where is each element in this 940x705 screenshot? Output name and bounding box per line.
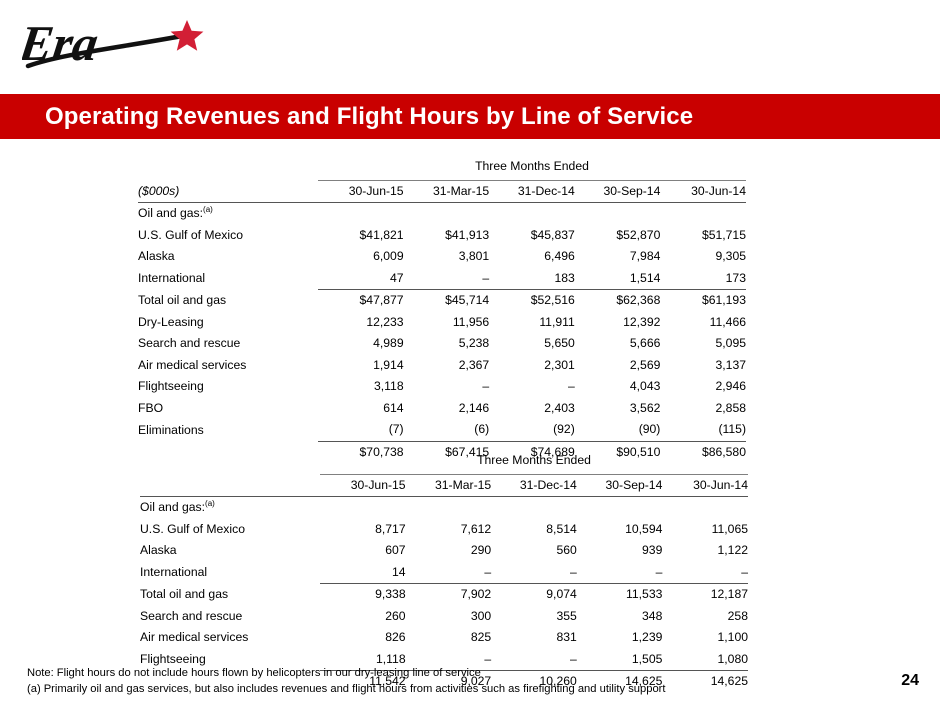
cell-3: 10,594 (577, 519, 663, 541)
table-row: Air medical services1,9142,3672,3012,569… (138, 355, 746, 377)
group-header-row: Three Months Ended (140, 450, 748, 472)
row-label: International (138, 268, 318, 290)
table-row: Search and rescue260300355348258 (140, 606, 748, 628)
footnote-marker: (a) (205, 499, 215, 508)
cell-3: 1,514 (575, 268, 661, 290)
cell-2 (491, 497, 577, 519)
cell-1 (404, 203, 490, 225)
spacer-cell (140, 450, 320, 472)
cell-0: $41,821 (318, 225, 404, 247)
cell-0 (320, 497, 406, 519)
cell-2: (92) (489, 419, 575, 441)
cell-3 (577, 497, 663, 519)
cell-1: 2,367 (404, 355, 490, 377)
row-label: U.S. Gulf of Mexico (140, 519, 320, 541)
cell-1: 5,238 (404, 333, 490, 355)
row-label: FBO (138, 398, 318, 420)
cell-3: 939 (577, 540, 663, 562)
cell-2: 2,301 (489, 355, 575, 377)
cell-3: 4,043 (575, 376, 661, 398)
footnote-note: Note:Flight hours do not include hours f… (27, 666, 666, 682)
column-header-row: 30-Jun-15 31-Mar-15 31-Dec-14 30-Sep-14 … (140, 474, 748, 497)
cell-4: $61,193 (660, 290, 746, 312)
units-label (140, 474, 320, 497)
cell-1: $45,714 (404, 290, 490, 312)
cell-1: 11,956 (404, 312, 490, 334)
cell-2: 9,074 (491, 584, 577, 606)
page-number: 24 (901, 672, 919, 690)
units-label: ($000s) (138, 180, 318, 203)
cell-2: 560 (491, 540, 577, 562)
table-body: Oil and gas:(a)U.S. Gulf of Mexico$41,82… (138, 203, 746, 464)
cell-0: 6,009 (318, 246, 404, 268)
era-logo-svg: Era (22, 14, 222, 76)
footnote-note-lead: Note: (27, 667, 54, 679)
cell-2: – (489, 376, 575, 398)
table-row: Flightseeing3,118––4,0432,946 (138, 376, 746, 398)
cell-3: 12,392 (575, 312, 661, 334)
cell-4: 11,065 (662, 519, 748, 541)
table-body: Oil and gas:(a)U.S. Gulf of Mexico8,7177… (140, 497, 748, 693)
table-row: Oil and gas:(a) (138, 203, 746, 225)
table-header: Three Months Ended 30-Jun-15 31-Mar-15 3… (140, 450, 748, 497)
page-title: Operating Revenues and Flight Hours by L… (45, 103, 693, 131)
table-header: Three Months Ended ($000s) 30-Jun-15 31-… (138, 156, 746, 203)
flight-hours-table: Three Months Ended 30-Jun-15 31-Mar-15 3… (140, 450, 748, 693)
cell-0: 826 (320, 627, 406, 649)
cell-4: 1,122 (662, 540, 748, 562)
title-banner: Operating Revenues and Flight Hours by L… (0, 94, 940, 139)
column-header-0: 30-Jun-15 (318, 180, 404, 203)
cell-4: 14,625 (662, 671, 748, 693)
cell-1: – (404, 268, 490, 290)
table-row: International47–1831,514173 (138, 268, 746, 290)
cell-0: 260 (320, 606, 406, 628)
cell-0: 3,118 (318, 376, 404, 398)
column-header-4: 30-Jun-14 (660, 180, 746, 203)
footnote-a-text: Primarily oil and gas services, but also… (44, 683, 666, 695)
cell-4: – (662, 562, 748, 584)
group-header-row: Three Months Ended (138, 156, 746, 178)
cell-4 (660, 203, 746, 225)
cell-0: 47 (318, 268, 404, 290)
cell-4: 258 (662, 606, 748, 628)
cell-0: 9,338 (320, 584, 406, 606)
cell-0: 8,717 (320, 519, 406, 541)
table-row: Total oil and gas9,3387,9029,07411,53312… (140, 584, 748, 606)
column-header-3: 30-Sep-14 (575, 180, 661, 203)
cell-4: 2,858 (660, 398, 746, 420)
row-label: Total oil and gas (140, 584, 320, 606)
table-row: Alaska6072905609391,122 (140, 540, 748, 562)
cell-2: 831 (491, 627, 577, 649)
cell-2: 11,911 (489, 312, 575, 334)
cell-4: 12,187 (662, 584, 748, 606)
cell-2: 183 (489, 268, 575, 290)
cell-4: 5,095 (660, 333, 746, 355)
table-row: FBO6142,1462,4033,5622,858 (138, 398, 746, 420)
table-row: Oil and gas:(a) (140, 497, 748, 519)
cell-1: – (406, 562, 492, 584)
row-label: Dry-Leasing (138, 312, 318, 334)
row-label: Flightseeing (138, 376, 318, 398)
table-row: Eliminations(7)(6)(92)(90)(115) (138, 419, 746, 441)
cell-3: 2,569 (575, 355, 661, 377)
cell-4: 1,100 (662, 627, 748, 649)
column-header-1: 31-Mar-15 (406, 474, 492, 497)
cell-1: – (404, 376, 490, 398)
row-label: Total oil and gas (138, 290, 318, 312)
cell-4: (115) (660, 419, 746, 441)
operating-revenues-table: Three Months Ended ($000s) 30-Jun-15 31-… (138, 156, 746, 463)
cell-4: 9,305 (660, 246, 746, 268)
column-header-1: 31-Mar-15 (404, 180, 490, 203)
cell-0: 614 (318, 398, 404, 420)
group-header-label: Three Months Ended (320, 450, 748, 472)
cell-1: 3,801 (404, 246, 490, 268)
footnote-a: (a)Primarily oil and gas services, but a… (27, 682, 666, 698)
era-logo: Era (22, 14, 222, 76)
cell-1 (406, 497, 492, 519)
cell-4: $51,715 (660, 225, 746, 247)
cell-3 (575, 203, 661, 225)
cell-3: 348 (577, 606, 663, 628)
cell-4: 11,466 (660, 312, 746, 334)
cell-3: 7,984 (575, 246, 661, 268)
spacer-cell (138, 156, 318, 178)
cell-2: 5,650 (489, 333, 575, 355)
cell-0: 12,233 (318, 312, 404, 334)
cell-3: 1,239 (577, 627, 663, 649)
cell-4: 2,946 (660, 376, 746, 398)
table-row: International14–––– (140, 562, 748, 584)
cell-2: 2,403 (489, 398, 575, 420)
column-header-row: ($000s) 30-Jun-15 31-Mar-15 31-Dec-14 30… (138, 180, 746, 203)
column-header-4: 30-Jun-14 (662, 474, 748, 497)
cell-4: 1,080 (662, 649, 748, 671)
row-label: Eliminations (138, 419, 318, 441)
row-label: U.S. Gulf of Mexico (138, 225, 318, 247)
column-header-3: 30-Sep-14 (577, 474, 663, 497)
row-label: Search and rescue (140, 606, 320, 628)
row-label: International (140, 562, 320, 584)
cell-2: $45,837 (489, 225, 575, 247)
cell-0: 607 (320, 540, 406, 562)
cell-1: 825 (406, 627, 492, 649)
star-icon (171, 20, 204, 51)
row-label: Alaska (140, 540, 320, 562)
footnote-marker: (a) (203, 205, 213, 214)
cell-4: 173 (660, 268, 746, 290)
row-label: Search and rescue (138, 333, 318, 355)
group-header-label: Three Months Ended (318, 156, 746, 178)
cell-2: – (491, 562, 577, 584)
cell-0 (318, 203, 404, 225)
row-label: Alaska (138, 246, 318, 268)
cell-3: $62,368 (575, 290, 661, 312)
cell-1: 2,146 (404, 398, 490, 420)
cell-3: 3,562 (575, 398, 661, 420)
cell-4: 3,137 (660, 355, 746, 377)
cell-3: $52,870 (575, 225, 661, 247)
row-label: Oil and gas:(a) (140, 497, 320, 519)
cell-4 (662, 497, 748, 519)
cell-2: $52,516 (489, 290, 575, 312)
footnote-a-lead: (a) (27, 683, 41, 695)
cell-1: 7,902 (406, 584, 492, 606)
cell-3: (90) (575, 419, 661, 441)
cell-0: 4,989 (318, 333, 404, 355)
cell-2 (489, 203, 575, 225)
column-header-2: 31-Dec-14 (489, 180, 575, 203)
cell-0: 1,914 (318, 355, 404, 377)
row-label: Oil and gas:(a) (138, 203, 318, 225)
cell-0: $47,877 (318, 290, 404, 312)
cell-3: 5,666 (575, 333, 661, 355)
cell-0: (7) (318, 419, 404, 441)
cell-2: 8,514 (491, 519, 577, 541)
cell-1: 290 (406, 540, 492, 562)
row-label: Air medical services (140, 627, 320, 649)
table-row: U.S. Gulf of Mexico$41,821$41,913$45,837… (138, 225, 746, 247)
cell-2: 355 (491, 606, 577, 628)
footnotes: Note:Flight hours do not include hours f… (27, 666, 666, 697)
table-row: Search and rescue4,9895,2385,6505,6665,0… (138, 333, 746, 355)
cell-1: 300 (406, 606, 492, 628)
table-row: Total oil and gas$47,877$45,714$52,516$6… (138, 290, 746, 312)
cell-1: $41,913 (404, 225, 490, 247)
table-row: U.S. Gulf of Mexico8,7177,6128,51410,594… (140, 519, 748, 541)
table-row: Dry-Leasing12,23311,95611,91112,39211,46… (138, 312, 746, 334)
table-row: Air medical services8268258311,2391,100 (140, 627, 748, 649)
column-header-0: 30-Jun-15 (320, 474, 406, 497)
table-row: Alaska6,0093,8016,4967,9849,305 (138, 246, 746, 268)
cell-1: (6) (404, 419, 490, 441)
cell-3: 11,533 (577, 584, 663, 606)
footnote-note-text: Flight hours do not include hours flown … (57, 667, 481, 679)
cell-3: – (577, 562, 663, 584)
cell-1: 7,612 (406, 519, 492, 541)
row-label: Air medical services (138, 355, 318, 377)
column-header-2: 31-Dec-14 (491, 474, 577, 497)
era-wordmark: Era (22, 15, 182, 71)
cell-0: 14 (320, 562, 406, 584)
cell-2: 6,496 (489, 246, 575, 268)
